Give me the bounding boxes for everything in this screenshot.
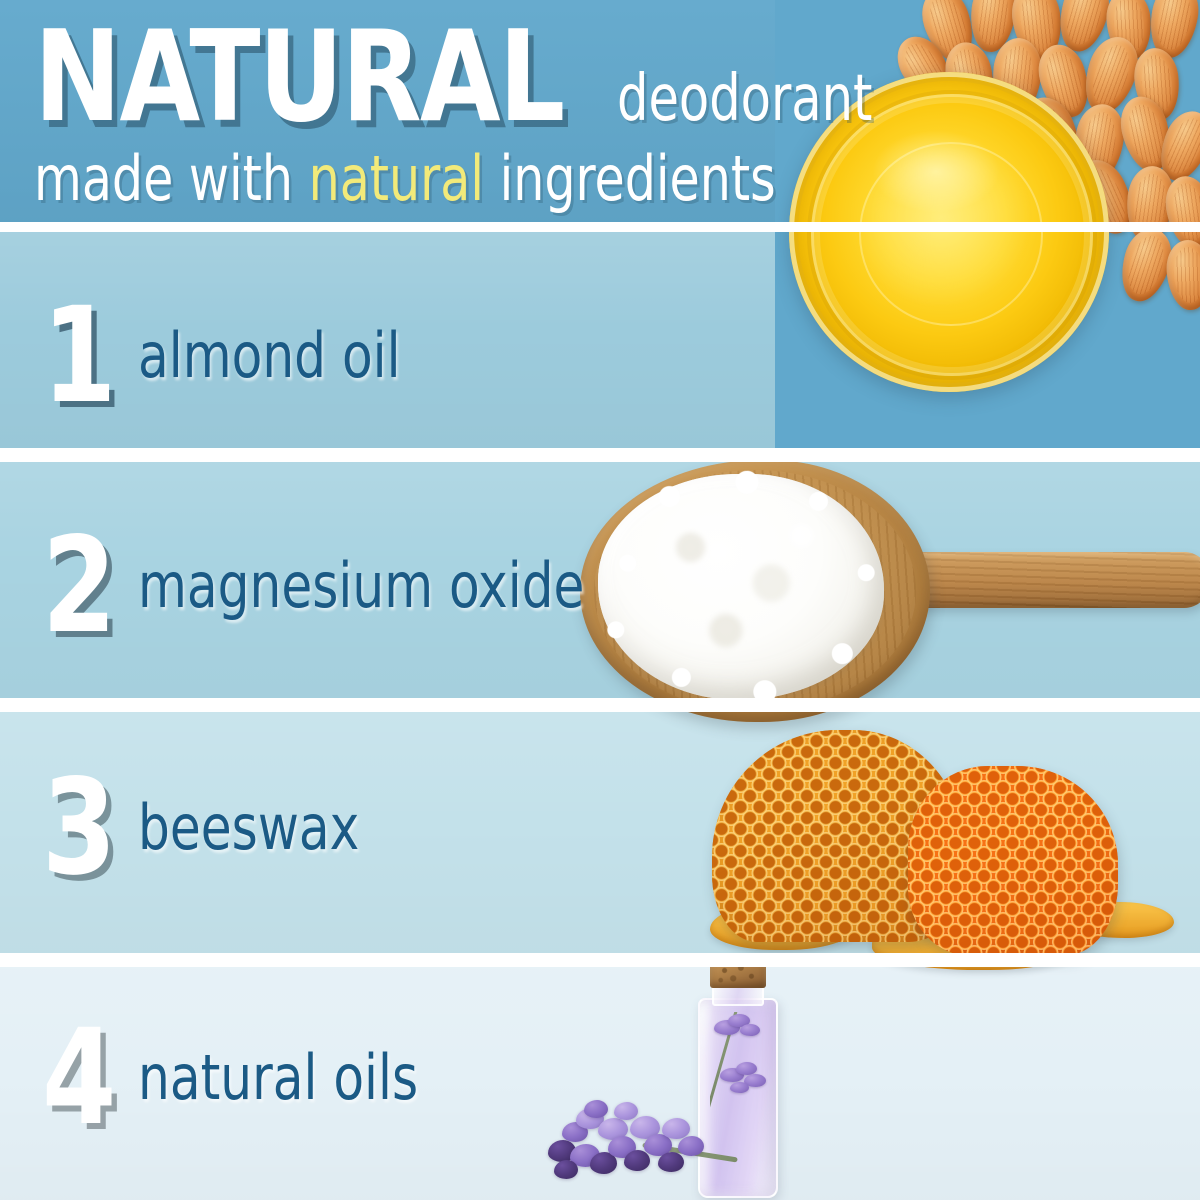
ingredient-number-4: 4	[42, 1012, 119, 1144]
infographic-canvas: NATURALdeodorant made with natural ingre…	[0, 0, 1200, 1200]
ingredient-number-2: 2	[42, 520, 119, 652]
product-type-label: deodorant	[617, 67, 872, 131]
ingredient-row-3: 3 beeswax	[42, 762, 384, 894]
ingredient-number-3: 3	[42, 762, 119, 894]
ingredient-row-1: 1 almond oil	[42, 290, 430, 422]
ingredient-label-4: natural oils	[138, 1047, 418, 1109]
separator-3	[0, 953, 1200, 967]
tagline-highlight: natural	[309, 142, 484, 215]
header-text-block: NATURALdeodorant made with natural ingre…	[34, 14, 774, 215]
ingredient-label-2: magnesium oxide	[138, 555, 584, 617]
oil-surface-highlight	[872, 130, 1000, 213]
page-title: NATURAL	[34, 14, 563, 140]
tagline: made with natural ingredients	[34, 142, 685, 215]
tagline-before: made with	[34, 142, 309, 215]
ingredient-row-4: 4 natural oils	[42, 1012, 449, 1144]
separator-2	[0, 698, 1200, 712]
tagline-after: ingredients	[484, 142, 776, 215]
title-line: NATURALdeodorant	[34, 14, 774, 140]
separator-0	[0, 222, 1200, 232]
ingredient-label-3: beeswax	[138, 797, 359, 859]
ingredient-row-2: 2 magnesium oxide	[42, 520, 634, 652]
separator-1	[0, 448, 1200, 462]
ingredient-number-1: 1	[42, 290, 119, 422]
ingredient-label-1: almond oil	[138, 325, 401, 387]
